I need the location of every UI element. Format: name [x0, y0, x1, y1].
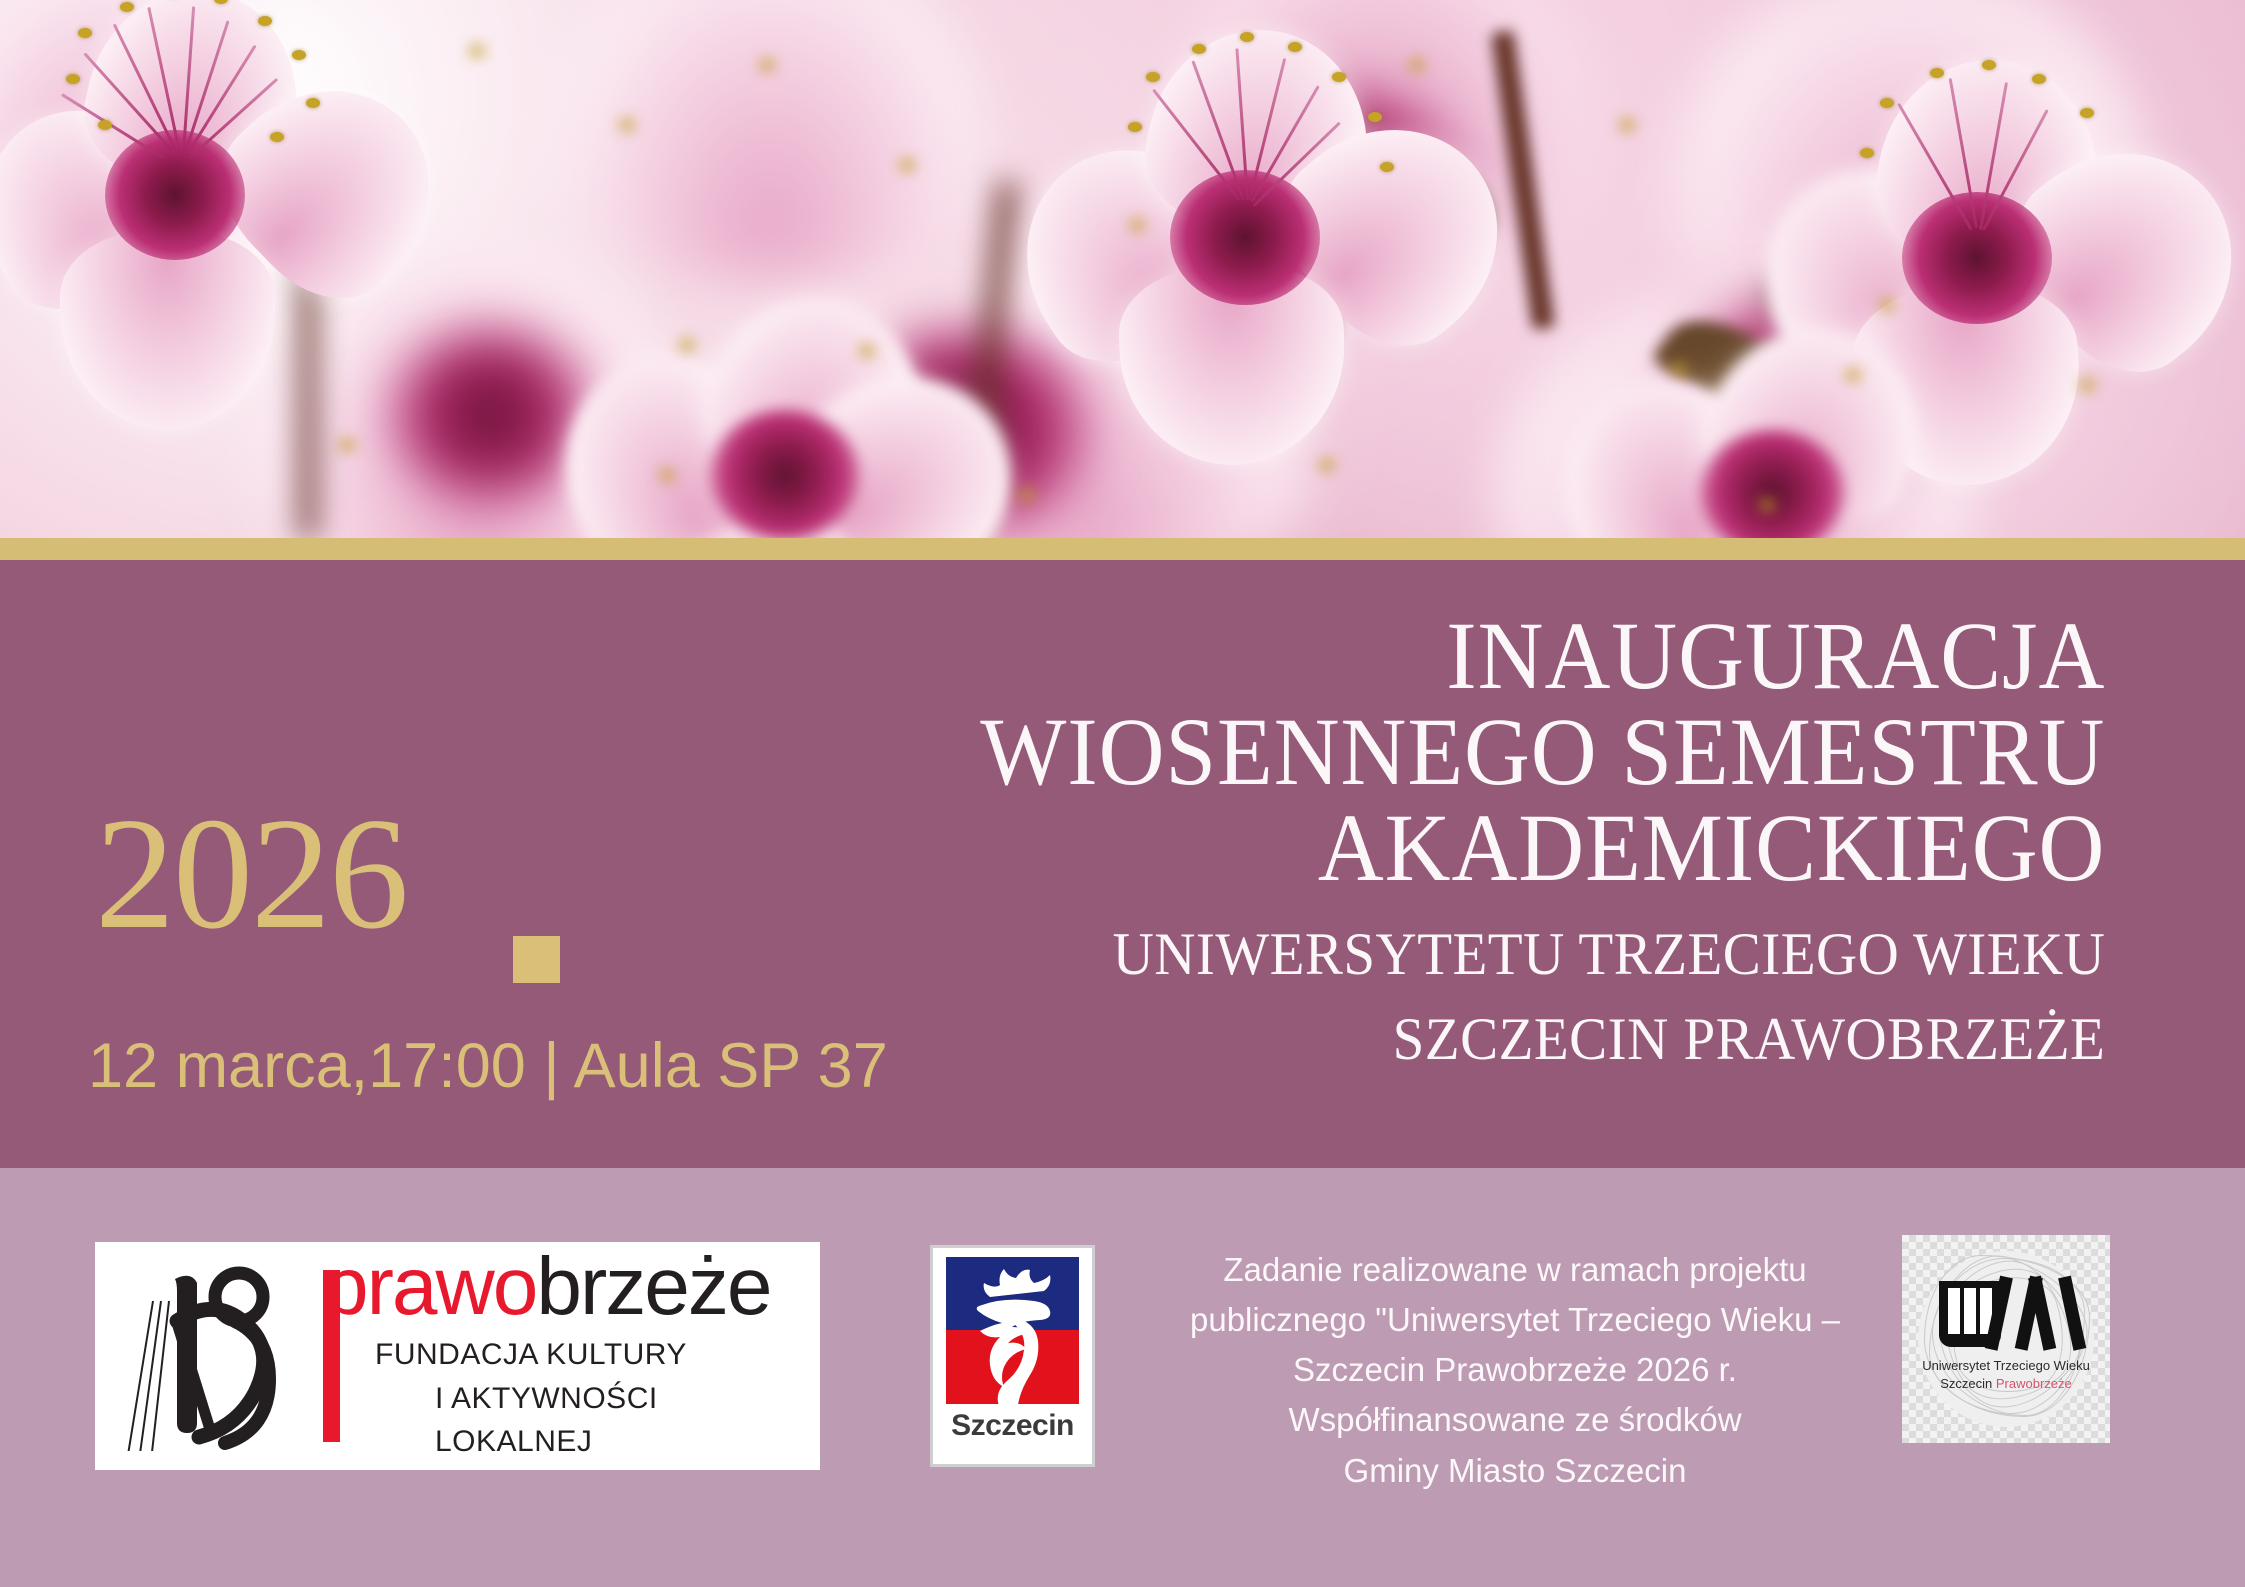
prawobrzeze-logo[interactable]: prawobrzeże FUNDACJA KULTURY I AKTYWNOŚC…: [95, 1242, 820, 1470]
anther: [258, 16, 272, 26]
anther: [2080, 380, 2094, 390]
title-line-1: INAUGURACJA: [980, 608, 2105, 704]
gold-divider-rule: [0, 538, 2245, 560]
szczecin-city-logo[interactable]: Szczecin: [930, 1245, 1095, 1467]
prawobrzeze-tagline: FUNDACJA KULTURY I AKTYWNOŚCI LOKALNEJ: [323, 1333, 820, 1464]
subtitle-line-1: UNIWERSYTETU TRZECIEGO WIEKU: [980, 912, 2105, 997]
anther: [1368, 112, 1382, 122]
anther: [2080, 108, 2094, 118]
anther: [1930, 68, 1944, 78]
prawobrzeze-wordmark: prawobrzeże: [323, 1248, 820, 1327]
anther: [1130, 220, 1144, 230]
anther: [306, 98, 320, 108]
anther: [1240, 32, 1254, 42]
hero-photo-cherry-blossoms: [0, 0, 2245, 538]
event-title-block: INAUGURACJA WIOSENNEGO SEMESTRU AKADEMIC…: [921, 608, 2105, 1082]
blossom-core: [710, 410, 860, 538]
anther: [1332, 72, 1346, 82]
szczecin-logo-label: Szczecin: [951, 1409, 1074, 1443]
poster-root: 2026 12 marca,17:00 | Aula SP 37 INAUGUR…: [0, 0, 2245, 1587]
anther: [660, 470, 674, 480]
blossom-foreground-left: [0, 0, 490, 420]
anther: [760, 60, 774, 70]
year-text: 2026: [95, 805, 407, 943]
anther: [1880, 98, 1894, 108]
griffin-glyph: [977, 1269, 1051, 1404]
year-square-dot: [513, 936, 560, 983]
book-spine: [1964, 1288, 1976, 1334]
prawobrzeze-red-bar: [323, 1270, 340, 1442]
anther: [1380, 162, 1394, 172]
wordmark-red-part: prawo: [323, 1241, 536, 1332]
anther: [270, 132, 284, 142]
sponsor-line-2: publicznego "Uniwersytet Trzeciego Wieku…: [1185, 1295, 1845, 1345]
utw-caption-text-2-prefix: Szczecin: [1940, 1376, 1996, 1391]
sponsor-line-3: Szczecin Prawobrzeże 2026 r.: [1185, 1345, 1845, 1395]
blossom-core: [1902, 192, 2052, 324]
utw-caption-line-2: Szczecin Prawobrzeże: [1902, 1375, 2110, 1392]
tagline-line-1: FUNDACJA KULTURY: [375, 1338, 687, 1371]
anther: [1620, 120, 1634, 130]
anther: [1860, 148, 1874, 158]
anther: [1128, 122, 1142, 132]
utw-logo[interactable]: Uniwersytet Trzeciego Wieku Szczecin Pra…: [1902, 1235, 2110, 1443]
anther: [680, 340, 694, 350]
anther: [120, 2, 134, 12]
anther: [98, 120, 112, 130]
anther: [620, 120, 634, 130]
title-line-3: AKADEMICKIEGO: [980, 800, 2105, 896]
anther: [1192, 44, 1206, 54]
year-block: 2026: [95, 805, 407, 943]
anther: [66, 74, 80, 84]
anther: [1320, 460, 1334, 470]
blossom-bottom-cluster: [560, 300, 1020, 538]
anther: [860, 346, 874, 356]
anther: [1760, 500, 1774, 510]
anther: [1880, 300, 1894, 310]
w-stroke: [2058, 1276, 2086, 1351]
blossom-petal: [60, 230, 275, 430]
subtitle-line-2: SZCZECIN PRAWOBRZEŻE: [980, 997, 2105, 1082]
blossom-petal-bg: [560, 0, 980, 280]
sponsor-funding-text: Zadanie realizowane w ramach projektu pu…: [1185, 1245, 1845, 1496]
sponsor-line-4: Współfinansowane ze środków: [1185, 1395, 1845, 1445]
anther: [1846, 370, 1860, 380]
tagline-line-2: I AKTYWNOŚCI LOKALNEJ: [375, 1377, 820, 1464]
wordmark-dark-part: brzeże: [536, 1241, 770, 1332]
anther: [2032, 74, 2046, 84]
utw-monogram: [1902, 1281, 2110, 1347]
prawobrzeze-mark-icon: [117, 1261, 317, 1451]
title-line-2: WIOSENNEGO SEMESTRU: [980, 704, 2105, 800]
blossom-bottom-cluster: [1560, 330, 2000, 538]
prawobrzeze-text: prawobrzeże FUNDACJA KULTURY I AKTYWNOŚC…: [323, 1248, 820, 1463]
anther: [1672, 364, 1686, 374]
sponsor-line-5: Gminy Miasto Szczecin: [1185, 1446, 1845, 1496]
event-datetime-venue: 12 marca,17:00 | Aula SP 37: [88, 1030, 888, 1102]
anther: [1288, 42, 1302, 52]
sponsor-line-1: Zadanie realizowane w ramach projektu: [1185, 1245, 1845, 1295]
anther: [470, 46, 484, 56]
anther: [340, 440, 354, 450]
utw-caption-text-1: Uniwersytet Trzeciego Wieku: [1922, 1358, 2090, 1373]
blossom-foreground-right: [1020, 30, 1540, 460]
anther: [1982, 60, 1996, 70]
utw-w-letter-icon: [1998, 1281, 2074, 1347]
anther: [900, 160, 914, 170]
utw-caption-text-2-accent: Prawobrzeże: [1996, 1376, 2072, 1391]
anther: [292, 50, 306, 60]
utw-caption-line-1: Uniwersytet Trzeciego Wieku: [1902, 1357, 2110, 1374]
anther: [1146, 72, 1160, 82]
anther: [1020, 490, 1034, 500]
main-banner: 2026 12 marca,17:00 | Aula SP 37 INAUGUR…: [0, 560, 2245, 1168]
szczecin-coat-of-arms: [946, 1257, 1079, 1404]
book-spine: [1948, 1288, 1960, 1334]
anther: [1410, 60, 1424, 70]
anther: [78, 28, 92, 38]
